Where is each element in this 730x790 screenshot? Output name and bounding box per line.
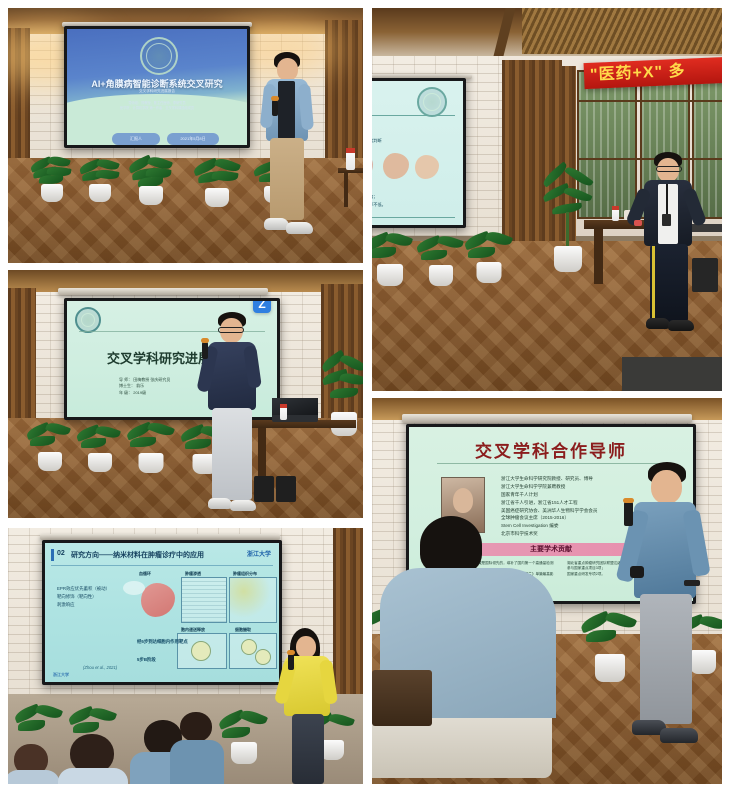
potted-plant bbox=[464, 230, 514, 288]
slide-bullets: 发病率逐年增加； 基层缺乏优质医疗资源； 依赖于医护人员及专家经验判断 bbox=[372, 121, 382, 145]
slide-subtitle: 交叉学科研究进展报告 bbox=[67, 89, 247, 94]
photo-middle-left[interactable]: Z 交叉学科研究进展报告 导 师： 田梅教授 张庆研究员 博士生： 翁乐 年 级… bbox=[8, 270, 363, 518]
figure-organ bbox=[141, 583, 175, 617]
glasses-icon bbox=[218, 327, 244, 333]
speaker-person bbox=[280, 628, 342, 784]
wood-slat-panel-right bbox=[325, 20, 363, 170]
room-scene-top-right: "医药+X" 多 发病率逐年增加； 基层缺乏优质医疗资源； 依赖于医护人员及专家… bbox=[372, 8, 722, 391]
slide-divider bbox=[372, 217, 455, 218]
slide-bullet: 角膜盲是可避免的致盲眼病； bbox=[372, 193, 386, 201]
microphone bbox=[288, 654, 294, 670]
speaker-pants bbox=[292, 714, 324, 784]
microphone bbox=[202, 342, 208, 359]
microphone bbox=[624, 502, 633, 526]
figure-cell bbox=[255, 649, 271, 665]
presenter-clicker bbox=[634, 220, 642, 226]
screen-roller bbox=[58, 288, 268, 295]
slide-bullet: 依赖于医护人员及专家经验判断 bbox=[372, 137, 382, 145]
zju-watermark: 浙江大学 bbox=[53, 672, 69, 678]
slide-meta: 导 师： 田梅教授 张庆研究员 博士生： 翁乐 年 级： 2019级 bbox=[119, 377, 170, 396]
photo-top-right[interactable]: "医药+X" 多 发病率逐年增加； 基层缺乏优质医疗资源； 依赖于医护人员及专家… bbox=[372, 8, 722, 391]
slide-bullets: EPR效应优先蓄积（被动） 靶向修饰（靶向性） 刺激响应 bbox=[57, 585, 110, 609]
slide-bullet: 早期诊断困难，构成致盲率不低。 bbox=[372, 201, 386, 209]
potted-plant bbox=[26, 422, 74, 474]
audience-body bbox=[8, 770, 60, 784]
potted-plant bbox=[128, 156, 174, 206]
speaker-cabinet bbox=[276, 476, 296, 502]
slide-note: 经5步到达细胞内作用靶点 bbox=[137, 639, 188, 645]
slide-badge-presenter: 汇报人 bbox=[112, 133, 160, 145]
room-scene-bottom-right: 交叉学科合作导师 杨光宇 教授 生命科学研究院 浙江大学生命科学研究院教授、研究… bbox=[372, 398, 722, 784]
water-bottle bbox=[612, 206, 619, 221]
slide-bullet: 刺激响应 bbox=[57, 601, 110, 609]
shoe bbox=[230, 500, 256, 511]
window-mullion bbox=[577, 100, 722, 102]
speaker-person bbox=[200, 312, 268, 517]
slide-nanomaterial-tumor: 02 研究方向——纳米材料在肿瘤诊疗中的应用 浙江大学 EPR效应优先蓄积（被动… bbox=[45, 543, 279, 682]
audience-body bbox=[170, 740, 224, 784]
wood-slat-panel-left bbox=[8, 28, 30, 163]
shoe bbox=[208, 498, 232, 509]
speaker-person bbox=[622, 462, 712, 762]
audience-body bbox=[58, 768, 128, 784]
screen-roller bbox=[402, 414, 692, 423]
mentor-bullet: 浙江大学生命科学研究院教授、研究员、博导 bbox=[501, 475, 597, 483]
shoe bbox=[286, 222, 313, 234]
tall-potted-plant bbox=[320, 356, 363, 446]
speaker-pants bbox=[270, 138, 304, 220]
shoe bbox=[668, 320, 694, 331]
audience-head bbox=[180, 712, 212, 742]
figure-cell bbox=[241, 639, 257, 655]
slide-ai-cornea-title: AI+角膜病智能诊断系统交叉研究 交叉学科研究进展报告 导师组：郑教授、陈主任医… bbox=[67, 29, 247, 145]
university-emblem-icon bbox=[75, 307, 101, 333]
slide-reference: (Zhou et al., 2021) bbox=[83, 665, 117, 670]
photo-bottom-left[interactable]: 02 研究方向——纳米材料在肿瘤诊疗中的应用 浙江大学 EPR效应优先蓄积（被动… bbox=[8, 528, 363, 784]
mentor-bullet: 浙江大学生命科学学院兼聘教授 bbox=[501, 483, 597, 491]
potted-plant bbox=[416, 234, 466, 290]
potted-plant bbox=[30, 156, 74, 204]
university-emblem-icon bbox=[417, 87, 447, 117]
photo-bottom-right[interactable]: 交叉学科合作导师 杨光宇 教授 生命科学研究院 浙江大学生命科学研究院教授、研究… bbox=[372, 398, 722, 784]
ceiling-rattan-panel bbox=[522, 8, 722, 54]
room-scene-bottom-left: 02 研究方向——纳米材料在肿瘤诊疗中的应用 浙江大学 EPR效应优先蓄积（被动… bbox=[8, 528, 363, 784]
slide-bullet: EPR效应优先蓄积（被动） bbox=[57, 585, 110, 593]
slide-accent-bar bbox=[51, 549, 54, 561]
room-scene-middle-left: Z 交叉学科研究进展报告 导 师： 田梅教授 张庆研究员 博士生： 翁乐 年 级… bbox=[8, 270, 363, 518]
speaker-person bbox=[258, 52, 328, 262]
slide-divider bbox=[372, 115, 455, 116]
speaker-pants bbox=[640, 594, 692, 724]
slide-bullet: 基层缺乏优质医疗资源； bbox=[372, 129, 382, 137]
speaker-pants bbox=[650, 244, 688, 322]
shoe bbox=[660, 728, 698, 743]
water-bottle bbox=[280, 404, 287, 420]
slide-footer-bullets: 角膜盲是可避免的致盲眼病； 早期诊断困难，构成致盲率不低。 bbox=[372, 193, 386, 209]
name-badge bbox=[662, 214, 671, 226]
figure-panel bbox=[181, 577, 227, 623]
slide-section-number: 02 bbox=[57, 550, 65, 557]
photo-top-left[interactable]: AI+角膜病智能诊断系统交叉研究 交叉学科研究进展报告 导师组：郑教授、陈主任医… bbox=[8, 8, 363, 263]
slide-cornea-content: 发病率逐年增加； 基层缺乏优质医疗资源； 依赖于医护人员及专家经验判断 角膜盲是… bbox=[372, 81, 463, 225]
figure-cloud bbox=[123, 581, 145, 595]
laptop bbox=[272, 398, 318, 422]
potted-plant bbox=[76, 424, 124, 474]
slide-title: 交叉学科合作导师 bbox=[409, 437, 693, 462]
slide-badge-date: 2021年5月8日 bbox=[167, 133, 219, 145]
university-emblem-icon bbox=[140, 37, 178, 75]
figure-label: 血循环 bbox=[139, 571, 151, 577]
room-scene-top-left: AI+角膜病智能诊断系统交叉研究 交叉学科研究进展报告 导师组：郑教授、陈主任医… bbox=[8, 8, 363, 263]
mentor-bullet: 国家青年千人计划 bbox=[501, 491, 597, 499]
speaker-person bbox=[634, 152, 706, 342]
floor-mat bbox=[622, 357, 722, 391]
wood-slat-panel-left bbox=[8, 288, 36, 428]
projector-screen-frame: AI+角膜病智能诊断系统交叉研究 交叉学科研究进展报告 导师组：郑教授、陈主任医… bbox=[64, 26, 250, 148]
table-leg bbox=[594, 229, 603, 284]
audience-group bbox=[8, 716, 258, 784]
slide-title: 研究方向——纳米材料在肿瘤诊疗中的应用 bbox=[71, 550, 204, 560]
side-table bbox=[372, 670, 432, 726]
microphone bbox=[272, 100, 278, 116]
wristwatch bbox=[630, 566, 644, 578]
slide-bullet: 发病率逐年增加； bbox=[372, 121, 382, 129]
slide-meta-line: 年 级： 2019级 bbox=[119, 390, 170, 396]
mentor-bullet: 美国癌症研究协会、美洲华人生物科学学会会员 bbox=[501, 507, 597, 515]
figure-cell bbox=[191, 641, 211, 661]
potted-plant bbox=[126, 422, 176, 476]
slide-bullet: 靶向修饰（靶向性） bbox=[57, 593, 110, 601]
presenter-clicker bbox=[684, 580, 700, 586]
side-table-leg bbox=[344, 173, 348, 207]
mentor-bullet: 浙江省千人引进，浙江省151人才工程 bbox=[501, 499, 597, 507]
shoe bbox=[646, 318, 670, 329]
pants-side-stripe bbox=[652, 246, 655, 318]
water-bottle bbox=[346, 148, 355, 170]
figure-panel bbox=[229, 577, 277, 623]
projector-screen-frame: 02 研究方向——纳米材料在肿瘤诊疗中的应用 浙江大学 EPR效应优先蓄积（被动… bbox=[42, 540, 282, 685]
slide-note: 5步B阶段 bbox=[137, 657, 156, 663]
potted-plant bbox=[78, 158, 122, 206]
projector-screen-frame: 发病率逐年增加； 基层缺乏优质医疗资源； 依赖于医护人员及专家经验判断 角膜盲是… bbox=[372, 78, 466, 228]
glasses-icon bbox=[656, 166, 682, 172]
photo-collage: AI+角膜病智能诊断系统交叉研究 交叉学科研究进展报告 导师组：郑教授、陈主任医… bbox=[0, 0, 730, 790]
potted-plant bbox=[372, 230, 416, 290]
potted-plant bbox=[193, 158, 241, 208]
lanyard bbox=[666, 184, 668, 214]
slide-divider bbox=[51, 565, 273, 566]
slide-figure-group bbox=[372, 151, 447, 185]
speaker-pants bbox=[212, 408, 252, 500]
slide-authors: 导师组：郑教授、陈主任医师、李研究员 医学院：计算机学院 第一作者：交叉学科课题… bbox=[67, 101, 247, 110]
zju-logo: 浙江大学 bbox=[247, 549, 271, 558]
